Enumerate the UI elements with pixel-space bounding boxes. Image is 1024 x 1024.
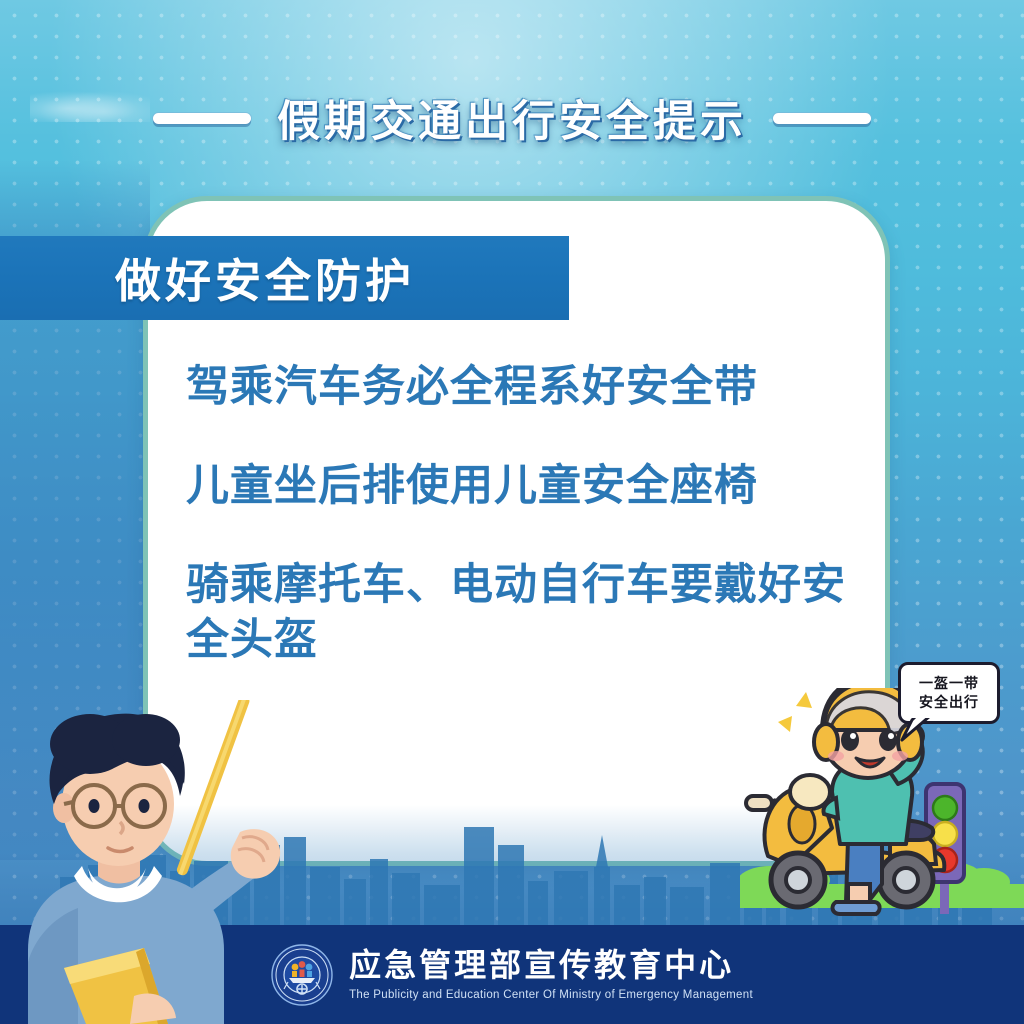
bush-icon [740,862,1024,908]
speech-bubble-line1: 一盔一带 [919,674,979,693]
footer-org-name-en: The Publicity and Education Center Of Mi… [349,989,753,1001]
footer-text-group: 应急管理部宣传教育中心 The Publicity and Education … [349,948,753,1001]
speech-bubble-tail-icon [900,714,934,742]
ministry-emblem-icon [271,944,333,1006]
section-ribbon-label: 做好安全防护 [115,245,415,311]
page-title-row: 假期交通出行安全提示 [0,88,1024,148]
speech-bubble-line2: 安全出行 [919,693,979,712]
poster-root: 假期交通出行安全提示 做好安全防护 驾乘汽车务必全程系好安全带 儿童坐后排使用儿… [0,0,1024,1024]
tips-list: 驾乘汽车务必全程系好安全带 儿童坐后排使用儿童安全座椅 骑乘摩托车、电动自行车要… [186,360,846,668]
tip-item: 驾乘汽车务必全程系好安全带 [186,360,846,415]
section-ribbon: 做好安全防护 [0,236,569,320]
footer-bar: 应急管理部宣传教育中心 The Publicity and Education … [0,925,1024,1024]
traffic-red-light [933,848,957,872]
traffic-green-light [933,796,957,820]
tip-item: 儿童坐后排使用儿童安全座椅 [186,459,846,514]
eye-icon [89,799,100,813]
footer-org-name-cn: 应急管理部宣传教育中心 [349,948,753,984]
title-dash-right-icon [773,113,871,124]
traffic-light-icon [926,784,964,914]
tip-item: 骑乘摩托车、电动自行车要戴好安全头盔 [186,558,846,668]
title-dash-left-icon [153,113,251,124]
traffic-yellow-light [933,822,957,846]
page-title: 假期交通出行安全提示 [277,87,747,149]
